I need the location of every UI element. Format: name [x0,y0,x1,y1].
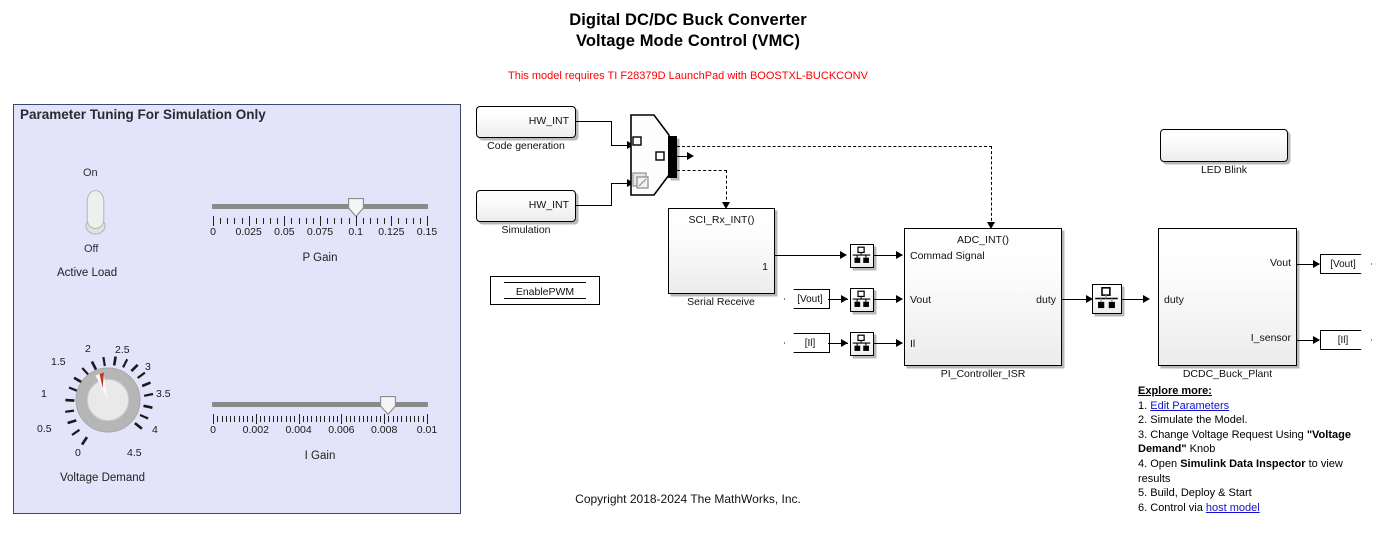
slider-tick-minor [273,416,274,422]
code-generation-block[interactable]: HW_INT [476,106,576,138]
slider-tick-minor [294,416,295,422]
dcdc-buck-plant-block[interactable]: duty Vout I_sensor [1158,228,1297,366]
slider-tick-major [213,414,214,424]
plant-output-vout: Vout [1270,257,1291,269]
slider-tick-minor [363,218,364,224]
slider-tick-minor [316,416,317,422]
slider-tick-minor [230,416,231,422]
voltage-demand-label: Voltage Demand [60,472,145,484]
toggle-switch-icon [82,185,109,235]
knob-tick-1: 1 [41,388,47,400]
explore-item-3-text: Change Voltage Request Using "Voltage De… [1138,429,1351,456]
slider-tick-major [356,216,357,226]
slider-tick-minor [252,416,253,422]
rate-transition-block-2[interactable] [850,288,874,312]
pi-output-duty: duty [1036,294,1056,306]
slider-tick-minor [393,416,394,422]
slider-tick-minor [350,416,351,422]
p-gain-slider[interactable]: 00.0250.050.0750.10.1250.15 P Gain [205,196,435,256]
slider-tick-minor [277,218,278,224]
i-gain-tick-labels: 00.0020.0040.0060.0080.01 [205,424,435,438]
wire-sim-h [576,205,612,206]
pi-input-command-signal: Commad Signal [910,250,985,262]
slider-tick-minor [270,218,271,224]
slider-tick-minor [349,218,350,224]
slider-tick-minor [290,416,291,422]
slider-tick-minor [327,218,328,224]
arrow-rt1-in [840,251,847,259]
slider-tick-minor [414,416,415,422]
slider-tick-minor [359,416,360,422]
slider-tick-minor [337,416,338,422]
knob-tick-4-5: 4.5 [127,447,142,459]
slider-tick-label: 0.1 [348,226,363,238]
copyright-notice: Copyright 2018-2024 The MathWorks, Inc. [0,492,1376,506]
explore-more-header: Explore more: [1138,384,1368,399]
slider-tick-minor [406,218,407,224]
explore-item-2-text: Simulate the Model. [1150,414,1247,426]
i-gain-label: I Gain [205,450,435,462]
slider-tick-minor [313,218,314,224]
slider-tick-minor [234,218,235,224]
knob-tick-2: 2 [85,343,91,355]
arrow-mux-in [687,152,694,160]
slider-tick-minor [371,416,372,422]
pi-controller-text: ADC_INT() [905,234,1061,246]
slider-tick-minor [380,416,381,422]
enable-pwm-block[interactable]: EnablePWM [490,276,600,305]
slider-tick-minor [420,218,421,224]
arrow-goto-il [1313,336,1320,344]
rate-transition-block-4[interactable] [1092,284,1122,314]
arrow-ctrl-in2 [896,295,903,303]
slider-tick-minor [346,416,347,422]
slider-tick-minor [354,416,355,422]
slider-tick-minor [320,416,321,422]
p-gain-label: P Gain [205,252,435,264]
slider-tick-minor [413,218,414,224]
wire-sim-v [611,183,612,206]
rate-transition-icon [1093,285,1120,312]
slider-tick-minor [418,416,419,422]
explore-item-1-num: 1. [1138,400,1147,412]
slider-tick-label: 0 [210,226,216,238]
serial-receive-port-1: 1 [762,261,768,273]
slider-tick-minor [291,218,292,224]
slider-tick-minor [243,416,244,422]
slider-tick-label: 0.025 [236,226,262,238]
arrow-ctrl-in1 [896,251,903,259]
knob-tick-0: 0 [75,447,81,459]
slider-thumb-icon [380,396,396,415]
slider-tick-minor [398,218,399,224]
slider-tick-minor [281,416,282,422]
slider-tick-minor [277,416,278,422]
goto-tag-il-label: [Il] [1338,335,1349,346]
wire-codegen-v [611,121,612,145]
i-gain-slider[interactable]: 00.0020.0040.0060.0080.01 I Gain [205,394,435,454]
explore-item-2-num: 2. [1138,414,1147,426]
slider-thumb-icon [348,198,364,217]
goto-tag-vout-label: [Vout] [1330,259,1356,270]
interrupt-line-sci-v [726,170,727,205]
knob-tick-3: 3 [145,361,151,373]
slider-tick-minor [333,416,334,422]
interrupt-line-adc-v [991,146,992,226]
p-gain-track[interactable] [212,204,428,209]
slider-tick-minor [363,416,364,422]
slider-tick-minor [401,416,402,422]
knob-tick-3-5: 3.5 [156,388,171,400]
slider-tick-label: 0.006 [328,424,354,436]
rate-transition-icon [851,333,872,354]
slider-tick-label: 0.075 [307,226,333,238]
slider-tick-minor [227,218,228,224]
slider-tick-minor [256,218,257,224]
slider-tick-minor [260,416,261,422]
panel-title: Parameter Tuning For Simulation Only [20,107,266,122]
slider-tick-major [384,414,385,424]
knob-icon [58,348,158,448]
slider-tick-minor [388,416,389,422]
arrow-rt2-in [841,295,848,303]
arrow-plant-in [1143,295,1150,303]
plant-label: DCDC_Buck_Plant [1158,368,1297,380]
slider-tick-minor [384,218,385,224]
code-generation-label: Code generation [476,140,576,152]
rate-transition-icon [851,245,872,266]
led-blink-label: LED Blink [1160,164,1288,176]
rate-transition-icon [851,289,872,310]
slider-tick-label: 0.01 [417,424,437,436]
slider-tick-minor [307,416,308,422]
p-gain-tick-row [205,216,435,226]
p-gain-tick-labels: 00.0250.050.0750.10.1250.15 [205,226,435,240]
slider-tick-minor [264,416,265,422]
wire-codegen-h [576,121,612,122]
slider-tick-minor [226,416,227,422]
knob-tick-4: 4 [152,424,158,436]
enable-pwm-label: EnablePWM [491,286,599,298]
toggle-off-label: Off [84,243,98,255]
explore-item-4-text: Open Simulink Data Inspector to view res… [1138,458,1343,485]
copyright-text: Copyright 2018-2024 The MathWorks, Inc. [575,492,801,506]
slider-tick-minor [376,416,377,422]
explore-item-2: 2. Simulate the Model. [1138,413,1368,428]
interrupt-line-adc-h [677,146,992,147]
explore-item-3: 3. Change Voltage Request Using "Voltage… [1138,428,1368,457]
rate-transition-block-3[interactable] [850,332,874,356]
pi-input-vout: Vout [910,294,931,306]
from-tag-vout-label: [Vout] [797,294,823,305]
toggle-on-label: On [83,167,98,179]
goto-tag-il[interactable]: [Il] [1320,330,1372,350]
interrupt-mux-block[interactable] [668,136,677,178]
slider-tick-minor [311,416,312,422]
from-tag-il[interactable]: [Il] [784,333,830,353]
slider-tick-major [249,216,250,226]
variant-source-block[interactable] [628,113,670,193]
active-load-toggle-switch[interactable] [82,185,109,235]
slider-tick-minor [423,416,424,422]
knob-tick-1-5: 1.5 [51,356,66,368]
title-line-2: Voltage Mode Control (VMC) [0,31,1376,52]
slider-tick-minor [286,416,287,422]
slider-tick-minor [397,416,398,422]
active-load-label: Active Load [57,267,117,279]
slider-tick-minor [329,416,330,422]
slider-tick-label: 0.004 [285,424,311,436]
explore-item-4: 4. Open Simulink Data Inspector to view … [1138,457,1368,486]
slider-tick-major [391,216,392,226]
slider-tick-minor [217,416,218,422]
slider-tick-label: 0.002 [243,424,269,436]
from-tag-il-label: [Il] [805,338,816,349]
arrow-rt3-in [841,339,848,347]
enable-pwm-bar-top [504,282,586,283]
pi-controller-isr-block[interactable]: ADC_INT() Commad Signal Vout Il duty [904,228,1062,366]
slider-tick-major [213,216,214,226]
wire-serial-to-rt [775,255,843,256]
slider-tick-minor [410,416,411,422]
slider-tick-minor [367,416,368,422]
simulation-block[interactable]: HW_INT [476,190,576,222]
i-gain-thumb[interactable] [380,396,396,415]
serial-receive-label: Serial Receive [661,296,781,308]
i-gain-tick-row [205,414,435,424]
slider-tick-major [320,216,321,226]
slider-tick-label: 0 [210,424,216,436]
voltage-demand-knob[interactable] [58,348,158,448]
slider-tick-minor [324,416,325,422]
slider-tick-minor [341,218,342,224]
slider-tick-minor [222,416,223,422]
plant-input-duty: duty [1164,294,1184,306]
slider-tick-minor [234,416,235,422]
led-blink-block[interactable] [1160,129,1288,162]
slider-tick-minor [242,218,243,224]
slider-tick-minor [334,218,335,224]
pi-controller-label: PI_Controller_ISR [904,368,1062,380]
slider-tick-major [341,414,342,424]
knob-tick-2-5: 2.5 [115,344,130,356]
title-line-1: Digital DC/DC Buck Converter [0,10,1376,31]
slider-tick-minor [406,416,407,422]
slider-tick-minor [306,218,307,224]
slider-tick-label: 0.05 [274,226,294,238]
knob-tick-0-5: 0.5 [37,423,52,435]
interrupt-line-sci-h [677,170,727,171]
slider-tick-label: 0.15 [417,226,437,238]
pi-input-il: Il [910,338,915,350]
slider-tick-minor [303,416,304,422]
slider-tick-minor [263,218,264,224]
explore-item-1: 1. Edit Parameters [1138,399,1368,414]
slider-tick-major [427,216,428,226]
simulation-text: HW_INT [529,199,569,211]
from-tag-vout[interactable]: [Vout] [784,289,830,309]
rate-transition-block-1[interactable] [850,244,874,268]
enable-pwm-bar-bottom [504,298,586,299]
plant-output-isensor: I_sensor [1251,332,1291,344]
arrow-goto-vout [1313,260,1320,268]
explore-item-3-num: 3. [1138,429,1147,441]
serial-receive-text: SCI_Rx_INT() [669,214,774,226]
slider-tick-label: 0.008 [371,424,397,436]
slider-tick-minor [220,218,221,224]
explore-item-4-num: 4. [1138,458,1147,470]
code-generation-text: HW_INT [529,115,569,127]
p-gain-thumb[interactable] [348,198,364,217]
slider-tick-minor [299,218,300,224]
slider-tick-minor [239,416,240,422]
slider-tick-minor [247,416,248,422]
slider-tick-minor [370,218,371,224]
edit-parameters-link[interactable]: Edit Parameters [1150,400,1229,412]
serial-receive-block[interactable]: SCI_Rx_INT() 1 [668,208,775,294]
page-title: Digital DC/DC Buck Converter Voltage Mod… [0,10,1376,52]
slider-tick-minor [377,218,378,224]
slider-tick-major [256,414,257,424]
arrow-ctrl-in3 [896,339,903,347]
slider-tick-minor [269,416,270,422]
hardware-requirement-note: This model requires TI F28379D LaunchPad… [0,70,1376,82]
simulation-label: Simulation [476,224,576,236]
slider-tick-major [284,216,285,226]
slider-tick-major [427,414,428,424]
goto-tag-vout[interactable]: [Vout] [1320,254,1372,274]
slider-tick-label: 0.125 [378,226,404,238]
slider-tick-major [299,414,300,424]
